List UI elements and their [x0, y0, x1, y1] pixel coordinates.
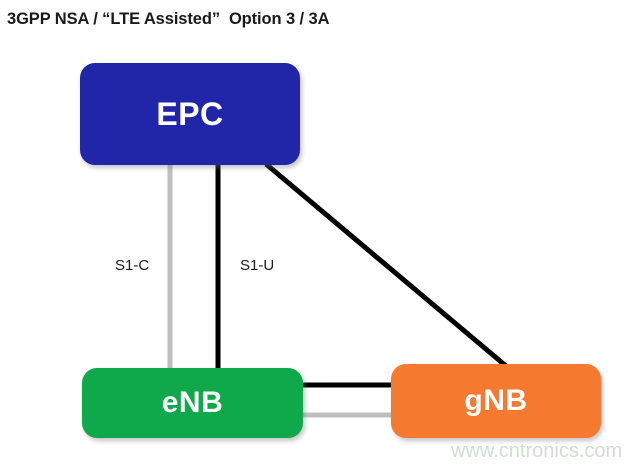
edge-s1-u-gnb-line [266, 164, 506, 366]
node-epc[interactable]: EPC [80, 63, 300, 165]
diagram-canvas: 3GPP NSA / “LTE Assisted” Option 3 / 3A … [0, 0, 640, 467]
watermark: www.cntronics.com [451, 440, 622, 463]
node-gnb[interactable]: gNB [391, 364, 601, 438]
node-enb[interactable]: eNB [82, 368, 303, 438]
edge-label-s1-c: S1-C [115, 257, 149, 274]
edge-label-s1-u: S1-U [240, 257, 274, 274]
